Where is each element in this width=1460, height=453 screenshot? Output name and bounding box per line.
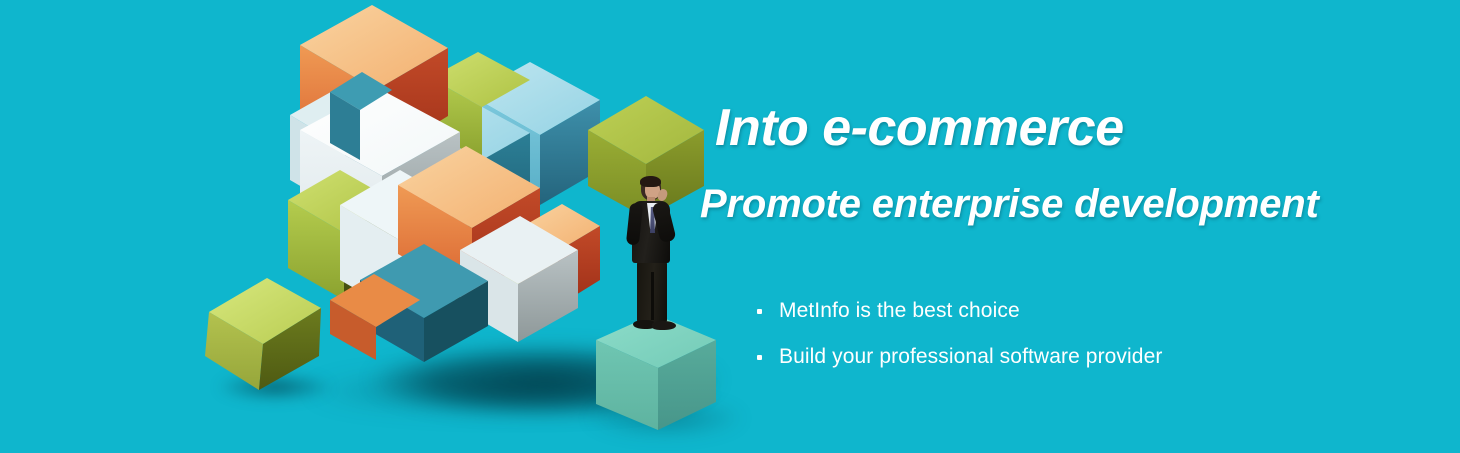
- hero-banner: Into e-commerce Promote enterprise devel…: [0, 0, 1460, 453]
- banner-headline: Into e-commerce: [715, 98, 1124, 158]
- bullet-label-1: MetInfo is the best choice: [779, 299, 1020, 323]
- square-bullet-icon: [757, 309, 762, 314]
- banner-text-block: Into e-commerce Promote enterprise devel…: [0, 0, 1460, 453]
- bullet-label-2: Build your professional software provide…: [779, 345, 1162, 369]
- square-bullet-icon: [757, 355, 762, 360]
- bullet-item-1: MetInfo is the best choice: [757, 288, 1162, 334]
- bullet-item-2: Build your professional software provide…: [757, 334, 1162, 380]
- banner-subheadline: Promote enterprise development: [700, 182, 1319, 227]
- banner-bullet-list: MetInfo is the best choice Build your pr…: [757, 288, 1162, 380]
